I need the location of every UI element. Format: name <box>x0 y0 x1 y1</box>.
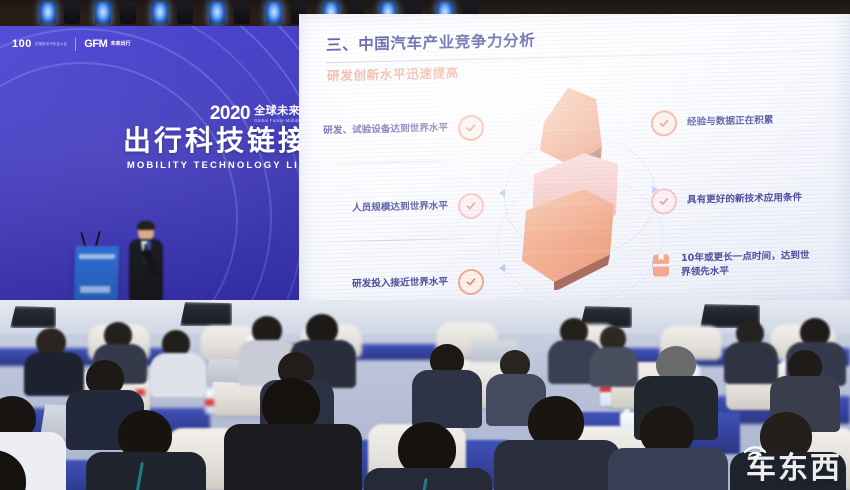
stage-light-icon <box>64 2 80 24</box>
stage-light-icon <box>40 2 56 24</box>
water-bottle <box>205 388 214 414</box>
logo-divider <box>75 38 76 51</box>
list-item-label: 研发、试验设备达到世界水平 <box>323 122 448 139</box>
stage-light-icon <box>152 2 168 24</box>
check-circle-icon <box>651 110 677 137</box>
check-circle-icon <box>458 269 484 296</box>
slide-content: 三、中国汽车产业竞争力分析 研发创新水平迅速提高 <box>299 14 850 314</box>
stage-light-icon <box>266 2 282 24</box>
logo-gfm: GFM <box>84 39 107 50</box>
logo-100-subtext: 中国电动汽车百人会 <box>35 42 67 46</box>
list-item-label: 经验与数据正在积累 <box>687 114 773 130</box>
watermark: 车东西 <box>746 454 842 484</box>
backdrop-logos: 100 中国电动汽车百人会 GFM 未来出行 <box>12 38 130 51</box>
slide-subtitle: 研发创新水平迅速提高 <box>327 67 459 83</box>
stage-monitor <box>10 306 56 328</box>
projection-screen: 三、中国汽车产业竞争力分析 研发创新水平迅速提高 <box>299 14 850 314</box>
signal-icon <box>742 442 768 458</box>
logo-gfm-cn: 未来出行 <box>110 41 130 48</box>
check-circle-icon <box>458 115 484 142</box>
row-divider <box>311 238 476 243</box>
stage-light-icon <box>120 2 136 24</box>
watermark-text: 车东西 <box>746 454 842 484</box>
row-divider <box>311 160 476 165</box>
list-item[interactable]: 研发投入接近世界水平 <box>352 262 484 305</box>
audience-area: 车东西 <box>0 300 850 490</box>
list-item-label: 10年或更长一点时间，达到世界领先水平 <box>681 249 811 280</box>
list-item-label: 具有更好的新技术应用条件 <box>687 191 802 208</box>
stage-light-icon <box>95 2 111 24</box>
list-item[interactable]: 具有更好的新技术应用条件 <box>651 178 802 222</box>
list-item[interactable]: 人员规模达到世界水平 <box>352 186 484 229</box>
slide-title: 三、中国汽车产业竞争力分析 <box>326 33 535 53</box>
check-circle-icon <box>458 193 484 220</box>
stage-light-icon <box>234 2 250 24</box>
bookmark-icon <box>651 254 671 276</box>
stacked-3d-graphic <box>496 68 656 292</box>
logo-100: 100 <box>12 39 32 50</box>
list-item[interactable]: 经验与数据正在积累 <box>651 101 773 144</box>
conference-photo: 100 中国电动汽车百人会 GFM 未来出行 2020 全球未来出行大会 Glo… <box>0 0 850 490</box>
stage-monitor <box>180 302 232 326</box>
backdrop-year: 2020 <box>210 104 250 123</box>
microphone-icon <box>147 240 151 250</box>
stage-light-icon <box>177 2 193 24</box>
list-item-label: 人员规模达到世界水平 <box>352 200 448 216</box>
stage-light-icon <box>209 2 225 24</box>
list-item-label: 研发投入接近世界水平 <box>352 276 448 292</box>
list-item[interactable]: 研发、试验设备达到世界水平 <box>323 108 484 152</box>
list-item[interactable]: 10年或更长一点时间，达到世界领先水平 <box>651 247 811 303</box>
check-circle-icon <box>651 188 677 215</box>
